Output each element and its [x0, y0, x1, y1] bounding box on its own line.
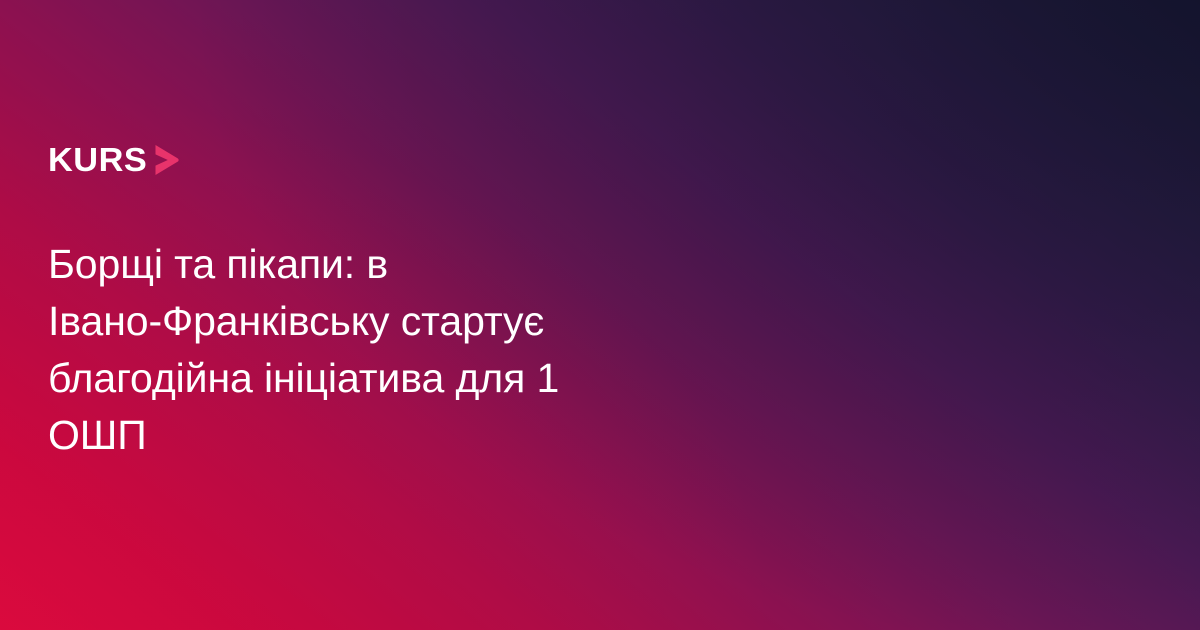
- og-share-card: KURS Борщі та пікапи: в Івано-Франківськ…: [0, 0, 1200, 630]
- kurs-logo[interactable]: KURS: [48, 143, 180, 176]
- headline-title: Борщі та пікапи: в Івано-Франківську ста…: [48, 236, 748, 464]
- chevron-right-icon: [154, 145, 180, 175]
- logo-wordmark: KURS: [48, 143, 147, 176]
